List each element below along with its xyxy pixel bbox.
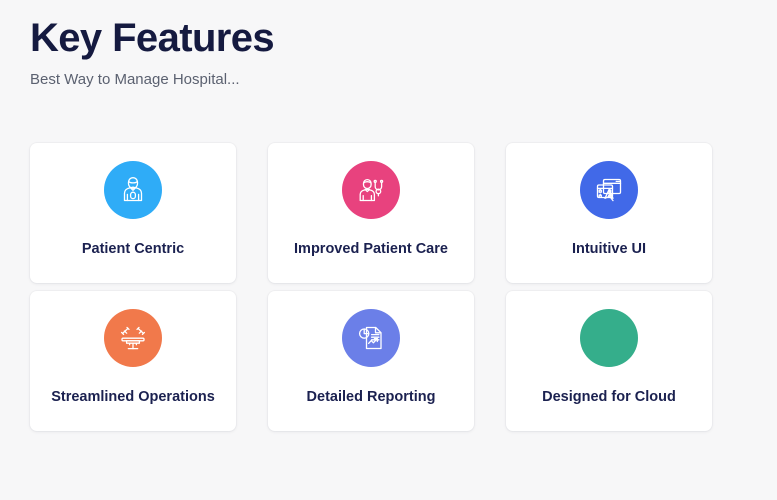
feature-card-patient-centric[interactable]: Patient Centric xyxy=(30,143,236,283)
report-chart-document-icon xyxy=(342,309,400,367)
page-subtitle: Best Way to Manage Hospital... xyxy=(30,70,730,90)
features-page: Key Features Best Way to Manage Hospital… xyxy=(0,0,777,500)
feature-card-streamlined-operations[interactable]: Streamlined Operations xyxy=(30,291,236,431)
features-grid: Patient Centric Improved Patient Car xyxy=(30,143,712,431)
feature-card-designed-for-cloud[interactable]: Designed for Cloud xyxy=(506,291,712,431)
feature-label: Patient Centric xyxy=(74,240,192,259)
feature-label: Designed for Cloud xyxy=(534,388,684,407)
feature-card-detailed-reporting[interactable]: Detailed Reporting xyxy=(268,291,474,431)
feature-label: Intuitive UI xyxy=(564,240,654,259)
doctor-stethoscope-icon xyxy=(342,161,400,219)
feature-label: Improved Patient Care xyxy=(286,240,456,259)
feature-card-intuitive-ui[interactable]: Intuitive UI xyxy=(506,143,712,283)
page-title: Key Features xyxy=(30,14,730,62)
blank-circle-icon xyxy=(580,309,638,367)
page-header: Key Features Best Way to Manage Hospital… xyxy=(30,14,730,90)
feature-card-improved-patient-care[interactable]: Improved Patient Care xyxy=(268,143,474,283)
operating-table-surgery-icon xyxy=(104,309,162,367)
browser-design-window-icon xyxy=(580,161,638,219)
feature-label: Detailed Reporting xyxy=(299,388,444,407)
feature-label: Streamlined Operations xyxy=(43,388,223,407)
doctor-person-icon xyxy=(104,161,162,219)
